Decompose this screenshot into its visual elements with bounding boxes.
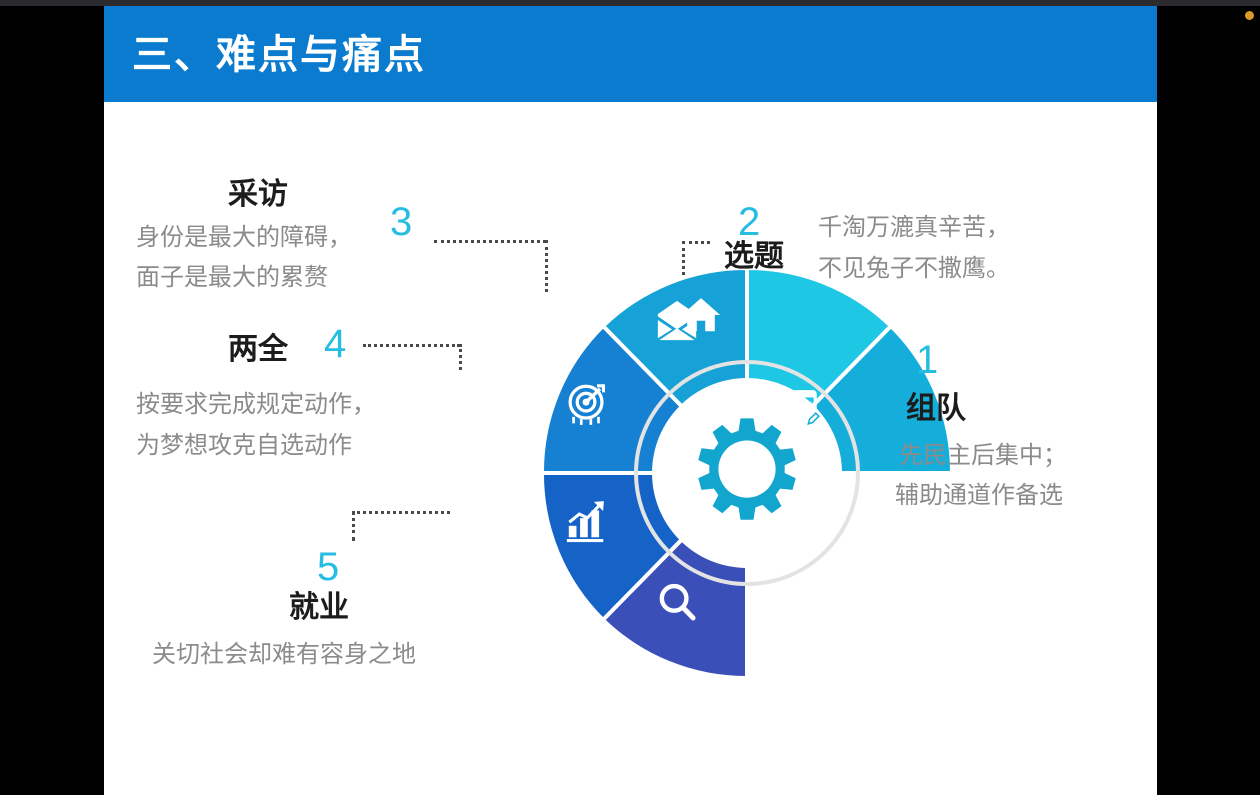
item-3-desc-line2: 面子是最大的累赘 xyxy=(136,262,328,294)
item-2-desc-line2: 不见兔子不撒鹰。 xyxy=(818,253,1010,285)
item-2-number: 2 xyxy=(738,202,760,242)
item-3-number: 3 xyxy=(390,202,412,242)
item-1-desc-line1: 先民主后集中； xyxy=(899,440,1067,472)
item-4-desc-line1: 按要求完成规定动作， xyxy=(136,389,376,421)
item-4-number: 4 xyxy=(324,324,346,364)
process-donut-chart xyxy=(532,258,962,688)
connector-5-vertical xyxy=(352,511,355,541)
item-3-title: 采访 xyxy=(228,178,288,211)
item-5-desc-line1: 关切社会却难有容身之地 xyxy=(152,639,416,671)
connector-5-horizontal xyxy=(352,511,450,514)
item-3-desc-line1: 身份是最大的障碍， xyxy=(136,222,352,254)
connector-4-horizontal xyxy=(363,344,460,347)
item-5-number: 5 xyxy=(317,547,339,587)
item-2-desc-line1: 千淘万漉真辛苦， xyxy=(818,212,1010,244)
bar-chart-growth-icon xyxy=(564,498,610,544)
item-4-desc-line2: 为梦想攻克自选动作 xyxy=(136,430,352,462)
item-1-title: 组队 xyxy=(906,392,966,425)
slide-title-bar: 三、难点与痛点 xyxy=(104,6,1157,102)
presentation-slide: 三、难点与痛点 xyxy=(104,6,1157,795)
item-5-title: 就业 xyxy=(289,591,349,624)
item-1-desc-line2: 辅助通道作备选 xyxy=(895,480,1063,512)
item-2-title: 选题 xyxy=(724,240,784,273)
connector-2-horizontal xyxy=(682,241,710,244)
status-indicator-dot xyxy=(1245,11,1254,20)
item-1-number: 1 xyxy=(916,340,938,380)
envelope-icon xyxy=(654,298,700,344)
screen-root: 三、难点与痛点 xyxy=(0,0,1260,795)
connector-3-horizontal xyxy=(434,240,546,243)
connector-4-vertical xyxy=(459,344,462,370)
page-title: 三、难点与痛点 xyxy=(132,22,426,80)
magnifier-icon xyxy=(654,580,700,626)
target-icon xyxy=(564,382,610,428)
item-4-title: 两全 xyxy=(228,333,288,366)
document-edit-icon xyxy=(774,384,820,430)
